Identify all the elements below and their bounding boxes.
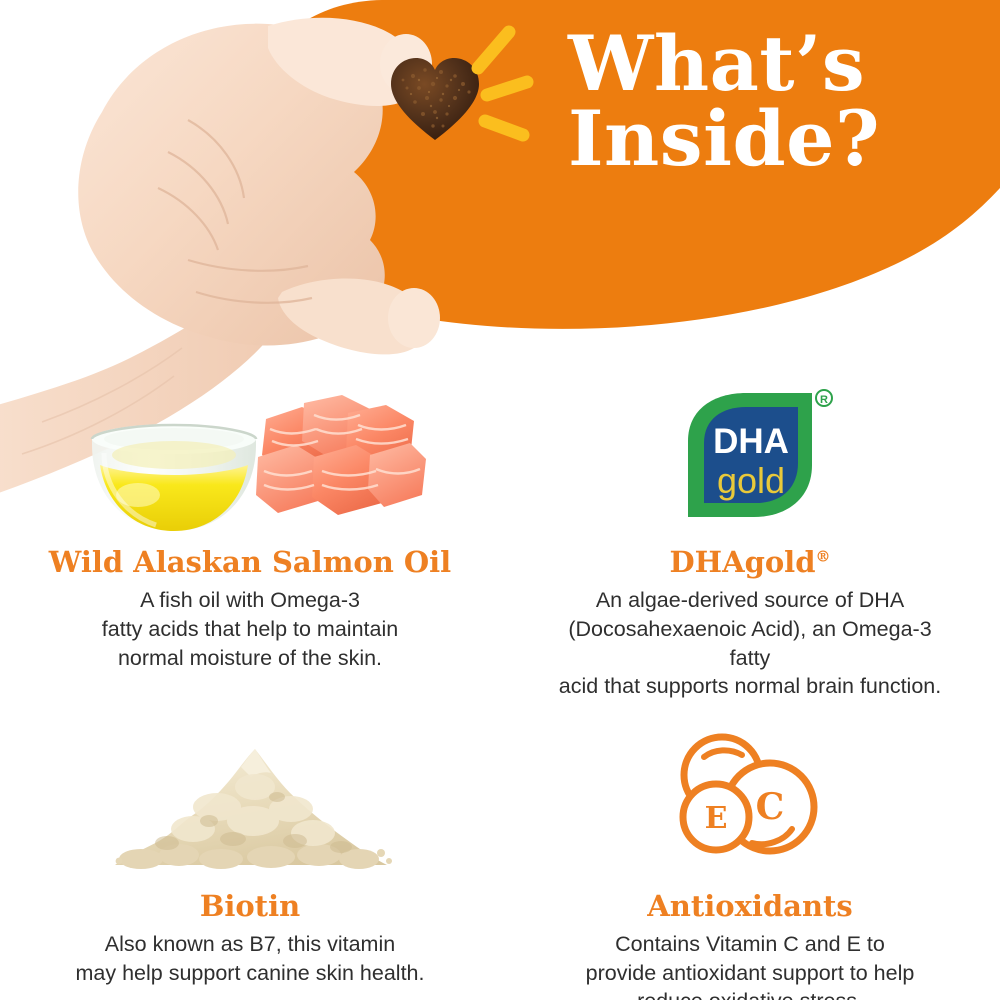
ingredient-title: Wild Alaskan Salmon Oil bbox=[49, 547, 451, 577]
description-line: Also known as B7, this vitamin bbox=[76, 930, 425, 959]
vitamin-e-c-circles-icon: E C bbox=[660, 727, 840, 877]
page-title: What’s Inside? bbox=[568, 26, 988, 176]
sparkle-dashes-icon bbox=[455, 18, 565, 148]
salmon-oil-bowl-icon bbox=[70, 383, 430, 543]
description-line: (Docosahexaenoic Acid), an Omega-3 fatty bbox=[550, 615, 950, 672]
ingredient-title: DHAgold® bbox=[670, 547, 831, 577]
dhagold-logo-icon: DHA gold R bbox=[660, 383, 840, 533]
dha-logo-line-2: gold bbox=[717, 460, 785, 501]
vitamin-c-label: C bbox=[756, 786, 785, 828]
dha-logo-registered-mark: R bbox=[820, 394, 828, 406]
vitamin-e-label: E bbox=[705, 801, 728, 836]
description-line: Contains Vitamin C and E to bbox=[586, 930, 915, 959]
ingredient-card-dhagold: DHA gold R DHAgold® An algae-derived sou… bbox=[500, 375, 1000, 701]
description-line: may help support canine skin health. bbox=[76, 959, 425, 988]
ingredient-description: Contains Vitamin C and E to provide anti… bbox=[586, 930, 915, 1000]
ingredient-title-text: Wild Alaskan Salmon Oil bbox=[49, 545, 451, 579]
dha-logo-line-1: DHA bbox=[713, 422, 789, 461]
ingredient-description: A fish oil with Omega-3 fatty acids that… bbox=[102, 586, 398, 672]
description-line: A fish oil with Omega-3 bbox=[102, 586, 398, 615]
ingredient-title-text: Antioxidants bbox=[647, 889, 853, 923]
ingredient-art bbox=[0, 719, 500, 887]
ingredient-title: Biotin bbox=[200, 891, 300, 921]
description-line: acid that supports normal brain function… bbox=[550, 672, 950, 701]
hero-banner: What’s Inside? bbox=[0, 0, 1000, 350]
ingredient-title: Antioxidants bbox=[647, 891, 853, 921]
ingredient-card-antioxidants: E C Antioxidants Contains Vitamin C and … bbox=[500, 719, 1000, 1000]
ingredient-art: E C bbox=[500, 719, 1000, 887]
description-line: normal moisture of the skin. bbox=[102, 644, 398, 673]
description-line: provide antioxidant support to help bbox=[586, 959, 915, 988]
infographic-canvas: What’s Inside? bbox=[0, 0, 1000, 1000]
glass-oil-bowl bbox=[92, 424, 256, 531]
page-title-line-2: Inside? bbox=[568, 101, 988, 176]
description-line: An algae-derived source of DHA bbox=[550, 586, 950, 615]
description-line: reduce oxidative stress. bbox=[586, 987, 915, 1000]
ingredient-card-biotin: Biotin Also known as B7, this vitamin ma… bbox=[0, 719, 500, 1000]
ingredient-grid: Wild Alaskan Salmon Oil A fish oil with … bbox=[0, 375, 1000, 1000]
salmon-cubes bbox=[256, 395, 426, 515]
description-line: fatty acids that help to maintain bbox=[102, 615, 398, 644]
ingredient-art bbox=[0, 375, 500, 543]
ingredient-art: DHA gold R bbox=[500, 375, 1000, 543]
ingredient-description: An algae-derived source of DHA (Docosahe… bbox=[550, 586, 950, 700]
registered-trademark-mark: ® bbox=[815, 547, 830, 565]
ingredient-card-salmon-oil: Wild Alaskan Salmon Oil A fish oil with … bbox=[0, 375, 500, 701]
ingredient-title-text: Biotin bbox=[200, 889, 300, 923]
ingredient-title-text: DHAgold bbox=[670, 545, 816, 579]
biotin-powder-mound-icon bbox=[105, 729, 395, 879]
ingredient-description: Also known as B7, this vitamin may help … bbox=[76, 930, 425, 987]
